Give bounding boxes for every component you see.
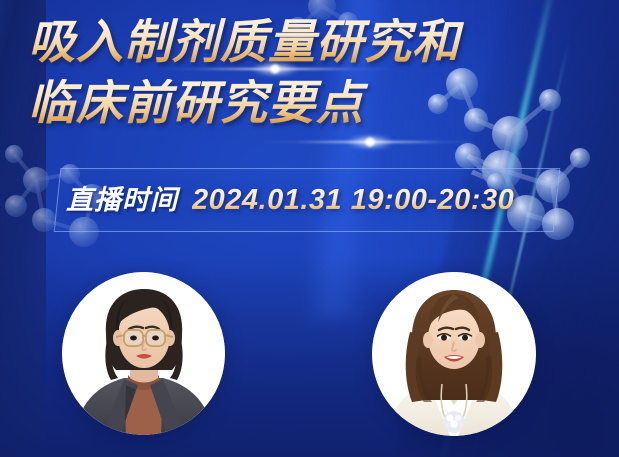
speaker-avatar-right (372, 272, 536, 436)
title-line-2: 临床前研究要点 (28, 79, 619, 126)
schedule-block: 直播时间 2024.01.31 19:00-20:30 (66, 178, 514, 222)
banner-title: 吸入制剂质量研究和 临床前研究要点 (0, 18, 619, 126)
brooch-icon (443, 411, 465, 433)
speaker-avatar-left (62, 272, 225, 435)
schedule-label: 直播时间 (66, 187, 178, 214)
title-line-1: 吸入制剂质量研究和 (28, 18, 619, 65)
webinar-banner: 吸入制剂质量研究和 临床前研究要点 直播时间 2024.01.31 19:00-… (0, 0, 619, 457)
schedule-value: 2024.01.31 19:00-20:30 (192, 186, 514, 215)
